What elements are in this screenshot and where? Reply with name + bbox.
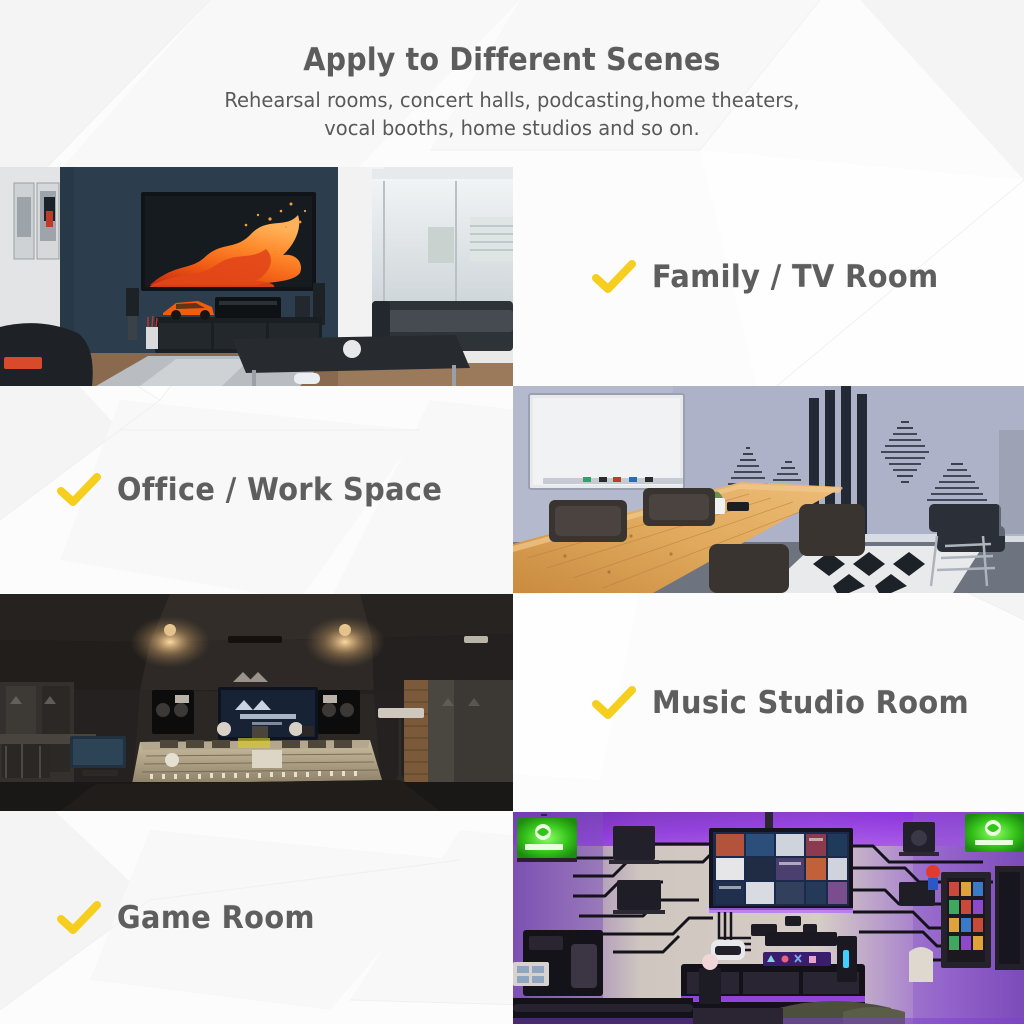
scene-photo-office-work-space — [513, 386, 1024, 593]
page-subtitle-line-2: vocal booths, home studios and so on. — [26, 114, 999, 142]
page-subtitle: Rehearsal rooms, concert halls, podcasti… — [26, 86, 999, 143]
page-subtitle-line-1: Rehearsal rooms, concert halls, podcasti… — [26, 86, 999, 114]
scene-label-game-room: Game Room — [117, 900, 315, 936]
scene-caption-music-studio-room: Music Studio Room — [592, 594, 1024, 811]
scene-caption-office-work-space: Office / Work Space — [57, 386, 513, 593]
infographic-page: Apply to Different Scenes Rehearsal room… — [0, 0, 1024, 1024]
scene-photo-game-room — [513, 812, 1024, 1024]
scene-label-office-work-space: Office / Work Space — [117, 472, 442, 508]
check-icon — [57, 901, 101, 935]
scene-label-family-tv-room: Family / TV Room — [652, 259, 938, 295]
scene-photo-music-studio-room — [0, 594, 513, 811]
scene-label-music-studio-room: Music Studio Room — [652, 685, 969, 721]
scene-caption-family-tv-room: Family / TV Room — [592, 167, 1024, 386]
check-icon — [592, 260, 636, 294]
scene-photo-family-tv-room — [0, 167, 513, 386]
scene-caption-game-room: Game Room — [57, 812, 513, 1024]
header: Apply to Different Scenes Rehearsal room… — [0, 0, 1024, 167]
check-icon — [592, 686, 636, 720]
page-title: Apply to Different Scenes — [41, 44, 983, 77]
check-icon — [57, 473, 101, 507]
